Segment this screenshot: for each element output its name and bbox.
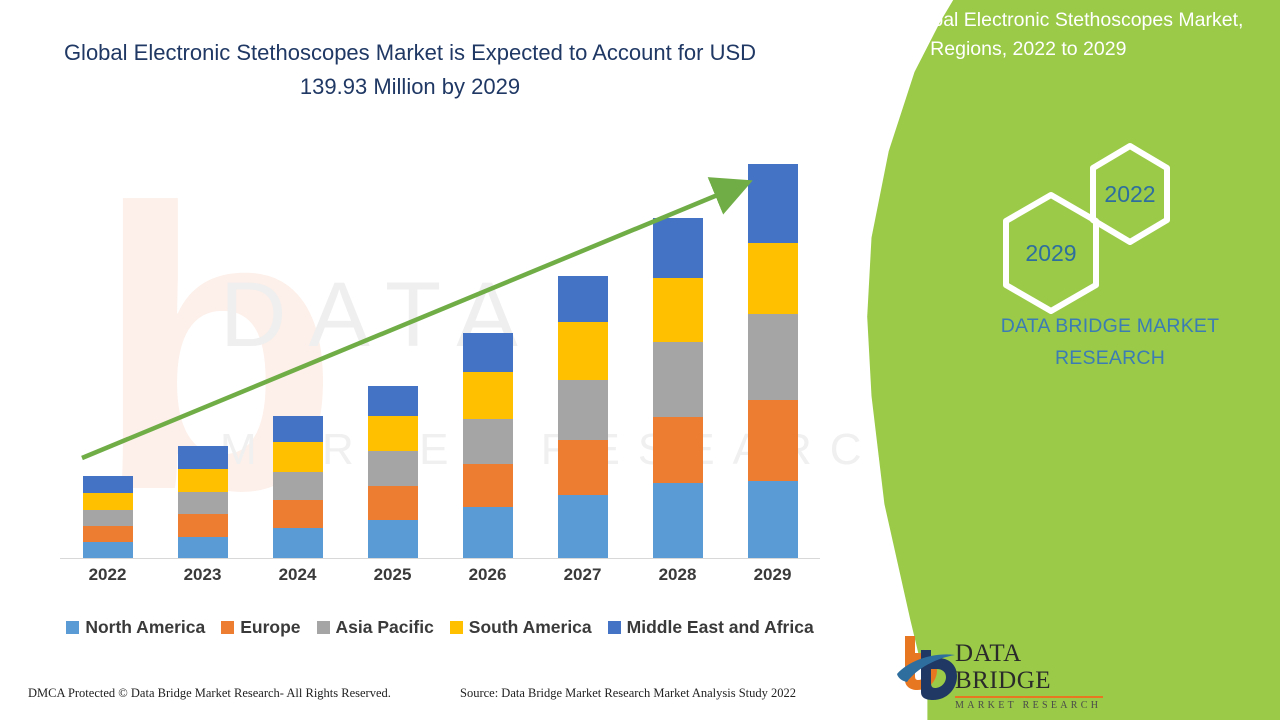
bar-segment — [83, 526, 133, 542]
bar-segment — [273, 528, 323, 558]
bar-segment — [653, 483, 703, 558]
bar-segment — [653, 342, 703, 417]
logo-name: DATA BRIDGE — [955, 640, 1115, 694]
logo-wordmark: DATA BRIDGE MARKET RESEARCH — [955, 640, 1115, 711]
x-tick-label-2026: 2026 — [440, 565, 535, 585]
stacked-bar — [178, 446, 228, 558]
x-tick-label-2029: 2029 — [725, 565, 820, 585]
panel-brand-line1: DATA BRIDGE MARKET — [960, 310, 1260, 342]
infographic-root: b DATA MARKET RESEARCH Global Electronic… — [0, 0, 1280, 720]
bar-column-2028 — [630, 150, 725, 558]
bar-segment — [178, 469, 228, 492]
bar-segment — [83, 476, 133, 494]
bar-segment — [368, 416, 418, 451]
hexagon-badge-2029: 2029 — [996, 190, 1106, 316]
legend-swatch-icon — [221, 621, 234, 634]
logo-tagline: MARKET RESEARCH — [955, 700, 1115, 711]
panel-title: Global Electronic Stethoscopes Market, B… — [902, 6, 1268, 64]
legend-swatch-icon — [608, 621, 621, 634]
bar-segment — [368, 386, 418, 417]
x-tick-label-2028: 2028 — [630, 565, 725, 585]
legend-item[interactable]: North America — [66, 617, 205, 638]
legend-swatch-icon — [450, 621, 463, 634]
chart-bars — [60, 150, 820, 558]
stacked-bar — [748, 164, 798, 558]
bar-segment — [463, 372, 513, 418]
x-tick-label-2023: 2023 — [155, 565, 250, 585]
legend-swatch-icon — [66, 621, 79, 634]
bar-segment — [653, 417, 703, 483]
bar-segment — [558, 440, 608, 495]
bar-segment — [273, 472, 323, 500]
bar-column-2022 — [60, 150, 155, 558]
bar-segment — [178, 514, 228, 537]
bar-segment — [463, 507, 513, 558]
bar-column-2024 — [250, 150, 345, 558]
legend-item[interactable]: Europe — [221, 617, 300, 638]
bar-segment — [748, 164, 798, 243]
bar-segment — [748, 481, 798, 558]
legend-label: Asia Pacific — [336, 617, 434, 638]
bar-segment — [273, 500, 323, 528]
bar-segment — [558, 276, 608, 322]
x-tick-label-2027: 2027 — [535, 565, 630, 585]
x-tick-label-2024: 2024 — [250, 565, 345, 585]
bar-segment — [653, 218, 703, 277]
chart-legend: North AmericaEuropeAsia PacificSouth Ame… — [45, 617, 835, 638]
legend-item[interactable]: Middle East and Africa — [608, 617, 814, 638]
bar-segment — [273, 416, 323, 443]
bar-segment — [748, 314, 798, 400]
logo-divider — [955, 696, 1103, 698]
bar-segment — [463, 464, 513, 507]
bar-segment — [558, 322, 608, 380]
x-tick-label-2022: 2022 — [60, 565, 155, 585]
bar-segment — [178, 492, 228, 515]
bar-segment — [558, 495, 608, 558]
x-tick-label-2025: 2025 — [345, 565, 440, 585]
bar-segment — [748, 243, 798, 314]
legend-label: Middle East and Africa — [627, 617, 814, 638]
bar-segment — [178, 446, 228, 469]
bar-column-2025 — [345, 150, 440, 558]
legend-label: South America — [469, 617, 592, 638]
footer-source: Source: Data Bridge Market Research Mark… — [460, 686, 796, 701]
bar-segment — [273, 442, 323, 471]
stacked-bar — [558, 276, 608, 558]
bar-segment — [83, 510, 133, 526]
panel-brand: DATA BRIDGE MARKET RESEARCH — [960, 310, 1260, 374]
footer-copyright: DMCA Protected © Data Bridge Market Rese… — [28, 686, 391, 701]
bar-segment — [558, 380, 608, 440]
stacked-bar-chart — [60, 150, 820, 559]
bar-segment — [368, 451, 418, 486]
stacked-bar — [653, 218, 703, 558]
stacked-bar — [83, 476, 133, 558]
legend-item[interactable]: South America — [450, 617, 592, 638]
stacked-bar — [273, 416, 323, 558]
bar-segment — [368, 520, 418, 558]
bar-segment — [463, 333, 513, 372]
hexagon-badge-2029-label: 2029 — [1025, 240, 1076, 267]
bar-column-2026 — [440, 150, 535, 558]
page-title: Global Electronic Stethoscopes Market is… — [60, 36, 760, 104]
bar-column-2023 — [155, 150, 250, 558]
legend-swatch-icon — [317, 621, 330, 634]
bar-column-2029 — [725, 150, 820, 558]
bar-segment — [653, 278, 703, 342]
legend-label: Europe — [240, 617, 300, 638]
stacked-bar — [463, 333, 513, 558]
bar-segment — [83, 493, 133, 510]
hexagon-badge-2022-label: 2022 — [1104, 181, 1155, 208]
x-axis-line — [60, 558, 820, 559]
bar-column-2027 — [535, 150, 630, 558]
legend-label: North America — [85, 617, 205, 638]
stacked-bar — [368, 386, 418, 558]
bar-segment — [83, 542, 133, 558]
bar-segment — [368, 486, 418, 520]
bar-segment — [178, 537, 228, 558]
panel-brand-line2: RESEARCH — [960, 342, 1260, 374]
x-axis-labels: 20222023202420252026202720282029 — [60, 565, 820, 585]
bar-segment — [748, 400, 798, 481]
bar-segment — [463, 419, 513, 464]
legend-item[interactable]: Asia Pacific — [317, 617, 434, 638]
